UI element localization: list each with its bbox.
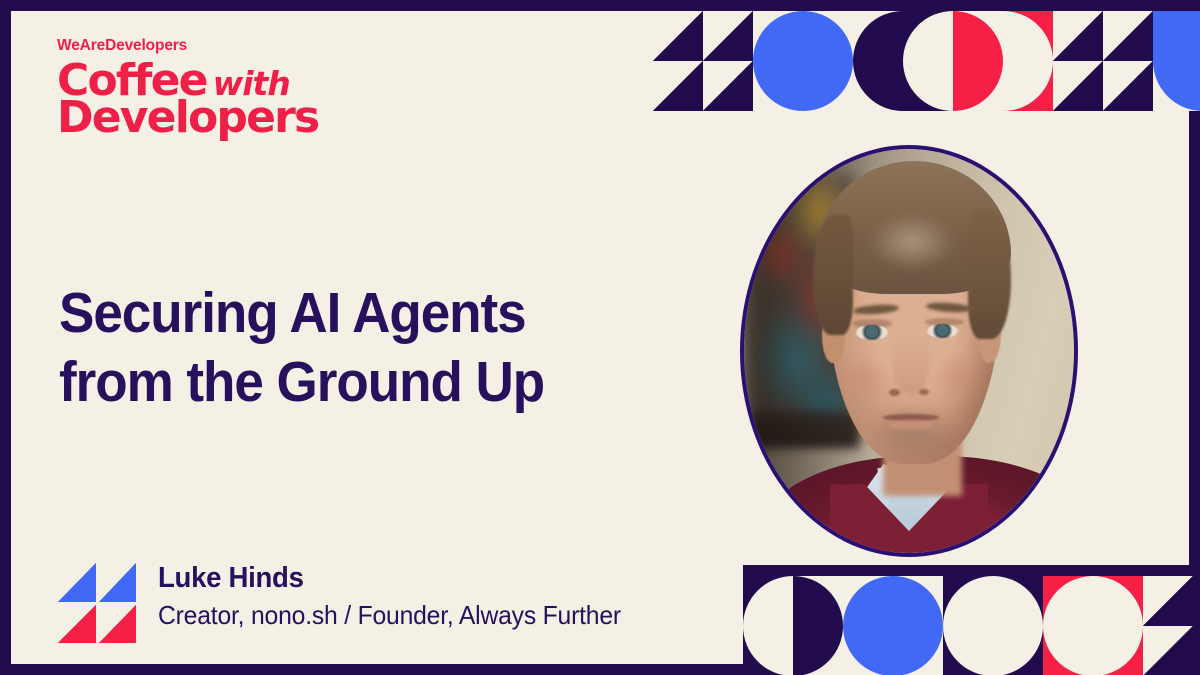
photo-hair-left: [813, 214, 853, 335]
pattern-disc: [803, 11, 853, 61]
pattern-cell: [893, 576, 943, 626]
pattern-disc: [953, 11, 1003, 61]
pattern-disc: [953, 61, 1003, 111]
pattern-disc: [893, 576, 943, 626]
pattern-cell: [743, 576, 793, 626]
triangle-top-right: [99, 563, 137, 602]
pattern-disc: [943, 626, 993, 675]
pattern-disc: [1153, 61, 1200, 111]
pattern-cell: [943, 576, 993, 626]
pattern-disc: [1003, 11, 1053, 61]
speaker-role: Creator, nono.sh / Founder, Always Furth…: [158, 599, 621, 632]
pattern-disc: [853, 61, 903, 111]
pattern-cell: [1053, 11, 1103, 61]
pattern-cell: [753, 11, 803, 61]
pattern-cell: [803, 11, 853, 61]
pattern-disc: [1093, 576, 1143, 626]
brand-lockup: WeAreDevelopers Coffeewith Developers: [57, 38, 387, 137]
slide-canvas: WeAreDevelopers Coffeewith Developers Se…: [0, 0, 1200, 675]
pattern-disc: [753, 11, 803, 61]
speaker-name: Luke Hinds: [158, 561, 621, 595]
brand-wordmark: Coffeewith Developers: [57, 62, 387, 138]
pattern-cell: [1093, 626, 1143, 675]
four-triangles-icon: [58, 563, 136, 643]
pattern-cell: [703, 61, 753, 111]
pattern-cell: [1143, 626, 1193, 675]
pattern-disc: [753, 61, 803, 111]
avatar-ring: [740, 145, 1078, 557]
pattern-cell: [993, 576, 1043, 626]
photo-forehead-highlight: [869, 214, 955, 271]
speaker-details: Luke Hinds Creator, nono.sh / Founder, A…: [158, 559, 645, 632]
pattern-cell: [853, 61, 903, 111]
pattern-cell: [843, 626, 893, 675]
pattern-cell: [793, 576, 843, 626]
pattern-cell: [1103, 61, 1153, 111]
pattern-cell: [953, 61, 1003, 111]
avatar: [740, 145, 1078, 557]
pattern-disc: [903, 61, 953, 111]
pattern-cell: [953, 11, 1003, 61]
pattern-cell: [993, 626, 1043, 675]
pattern-cell: [753, 61, 803, 111]
pattern-disc: [893, 626, 943, 675]
pattern-cell: [1043, 576, 1093, 626]
geometric-pattern-bottom-right: [743, 565, 1193, 675]
pattern-disc: [743, 576, 793, 626]
pattern-disc: [903, 11, 953, 61]
pattern-disc: [993, 626, 1043, 675]
pattern-cell: [853, 11, 903, 61]
title-line-1: Securing AI Agents: [59, 279, 654, 348]
page-title: Securing AI Agents from the Ground Up: [59, 279, 654, 417]
pattern-disc: [1093, 626, 1143, 675]
pattern-cell: [893, 626, 943, 675]
pattern-cell: [1153, 61, 1200, 111]
pattern-cell: [1093, 576, 1143, 626]
pattern-cell: [1043, 626, 1093, 675]
pattern-cell: [843, 576, 893, 626]
pattern-cell: [903, 11, 953, 61]
pattern-cell: [803, 61, 853, 111]
pattern-cell: [653, 61, 703, 111]
pattern-disc: [1043, 626, 1093, 675]
pattern-disc: [993, 576, 1043, 626]
pattern-disc: [1003, 61, 1053, 111]
triangle-bottom-right: [99, 605, 137, 644]
photo-eye-left: [856, 325, 887, 340]
brand-wordmark-line-2: Developers: [57, 99, 387, 137]
pattern-cell: [1003, 61, 1053, 111]
pattern-cell: [1153, 11, 1200, 61]
pattern-cell: [793, 626, 843, 675]
speaker-headshot: [744, 149, 1074, 553]
title-line-2: from the Ground Up: [59, 348, 654, 417]
pattern-cell: [1103, 11, 1153, 61]
triangle-bottom-left: [58, 605, 96, 644]
pattern-disc: [843, 576, 893, 626]
speaker-block: Luke Hinds Creator, nono.sh / Founder, A…: [58, 559, 645, 643]
pattern-disc: [1043, 576, 1093, 626]
pattern-cell: [653, 11, 703, 61]
pattern-cell: [703, 11, 753, 61]
pattern-disc: [943, 576, 993, 626]
pattern-cell: [1143, 576, 1193, 626]
pattern-cell: [903, 61, 953, 111]
geometric-pattern-top-right: [653, 0, 1200, 111]
pattern-disc: [743, 626, 793, 675]
pattern-disc: [793, 576, 843, 626]
brand-kicker: WeAreDevelopers: [57, 38, 387, 54]
triangle-top-left: [58, 563, 96, 602]
pattern-cell: [743, 626, 793, 675]
pattern-disc: [793, 626, 843, 675]
pattern-disc: [843, 626, 893, 675]
pattern-cell: [1003, 11, 1053, 61]
pattern-disc: [803, 61, 853, 111]
pattern-cell: [1053, 61, 1103, 111]
pattern-disc: [853, 11, 903, 61]
pattern-cell: [943, 626, 993, 675]
